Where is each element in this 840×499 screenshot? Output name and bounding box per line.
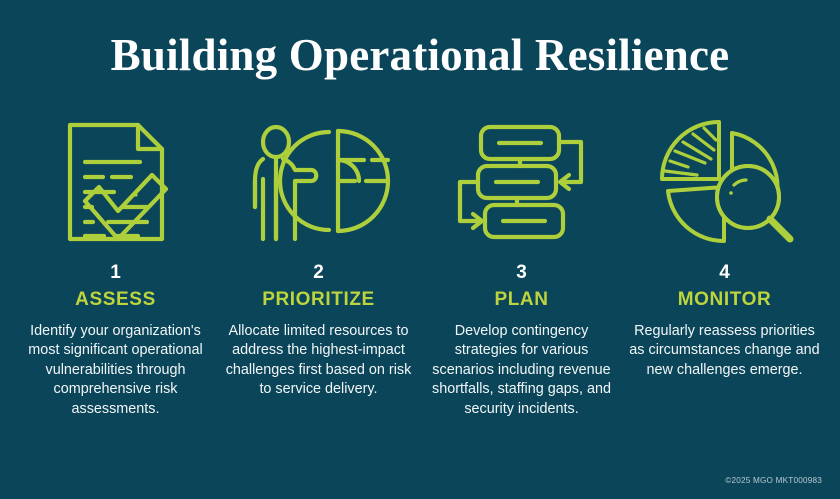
infographic-root: Building Operational Resilience [0, 0, 840, 499]
step-label: PLAN [494, 289, 548, 311]
step-description: Identify your organization's most signif… [18, 322, 214, 419]
pie-chart-magnifier-icon [650, 118, 800, 246]
title-bar: Building Operational Resilience [0, 28, 840, 82]
step-column-prioritize: 2 PRIORITIZE Allocate limited resources … [217, 118, 420, 400]
page-title: Building Operational Resilience [0, 28, 840, 82]
step-column-plan: 3 PLAN Develop contingency strategies fo… [420, 118, 623, 419]
step-description: Allocate limited resources to address th… [221, 322, 417, 400]
step-label: PRIORITIZE [262, 289, 375, 311]
footer-credit: ©2025 MGO MKT000983 [725, 476, 822, 485]
flowchart-process-icon [447, 118, 597, 246]
step-label: MONITOR [678, 289, 772, 311]
step-number: 3 [516, 262, 527, 284]
document-checkmark-icon [41, 118, 191, 246]
person-pointing-pie-chart-icon [244, 118, 394, 246]
step-number: 4 [719, 262, 730, 284]
step-label: ASSESS [75, 289, 156, 311]
step-column-assess: 1 ASSESS Identify your organization's mo… [14, 118, 217, 419]
step-number: 2 [313, 262, 324, 284]
step-column-monitor: 4 MONITOR Regularly reassess priorities … [623, 118, 826, 380]
step-number: 1 [110, 262, 121, 284]
step-description: Regularly reassess priorities as circums… [627, 322, 823, 380]
steps-row: 1 ASSESS Identify your organization's mo… [14, 118, 826, 419]
step-description: Develop contingency strategies for vario… [424, 322, 620, 419]
